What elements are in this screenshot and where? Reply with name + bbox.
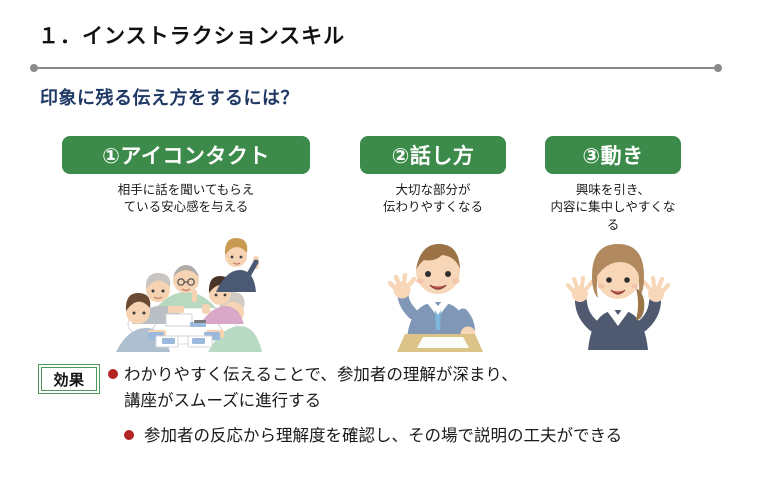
effect-badge: 効果: [38, 364, 100, 394]
list-item: わかりやすく伝えることで、参加者の理解が深まり、 講座がスムーズに進行する: [108, 362, 748, 415]
effect-badge-label: 効果: [53, 369, 84, 390]
title-divider: [30, 64, 722, 73]
skill-caption-eye-contact: 相手に話を聞いてもらえ ている安心感を与える: [62, 182, 310, 217]
divider-dot-right: [714, 64, 722, 72]
skill-column-speaking: ②話し方 大切な部分が 伝わりやすくなる: [360, 136, 506, 217]
list-item: 参加者の反応から理解度を確認し、その場で説明の工夫ができる: [124, 423, 748, 449]
skill-pill-movement: ③動き: [545, 136, 681, 174]
skill-column-movement: ③動き 興味を引き、 内容に集中しやすくなる: [545, 136, 681, 234]
group-meeting-illustration: [96, 232, 266, 352]
slide-subtitle: 印象に残る伝え方をするには？: [40, 84, 299, 110]
effect-list: わかりやすく伝えることで、参加者の理解が深まり、 講座がスムーズに進行する 参加…: [108, 362, 748, 455]
bullet-dot-icon: [108, 369, 118, 379]
skill-caption-movement: 興味を引き、 内容に集中しやすくなる: [545, 182, 681, 234]
bullet-dot-icon: [124, 430, 134, 440]
skill-caption-speaking: 大切な部分が 伝わりやすくなる: [360, 182, 506, 217]
presenter-man-illustration: [383, 232, 493, 352]
effect-item-text: 参加者の反応から理解度を確認し、その場で説明の工夫ができる: [144, 423, 622, 449]
skill-pill-eye-contact: ①アイコンタクト: [62, 136, 310, 174]
skill-pill-speaking: ②話し方: [360, 136, 506, 174]
effect-item-text: わかりやすく伝えることで、参加者の理解が深まり、 講座がスムーズに進行する: [124, 362, 518, 415]
skill-column-eye-contact: ①アイコンタクト 相手に話を聞いてもらえ ている安心感を与える: [62, 136, 310, 217]
divider-rule: [36, 67, 716, 69]
gesturing-woman-illustration: [562, 232, 674, 352]
page-title: １．インストラクションスキル: [38, 20, 345, 50]
